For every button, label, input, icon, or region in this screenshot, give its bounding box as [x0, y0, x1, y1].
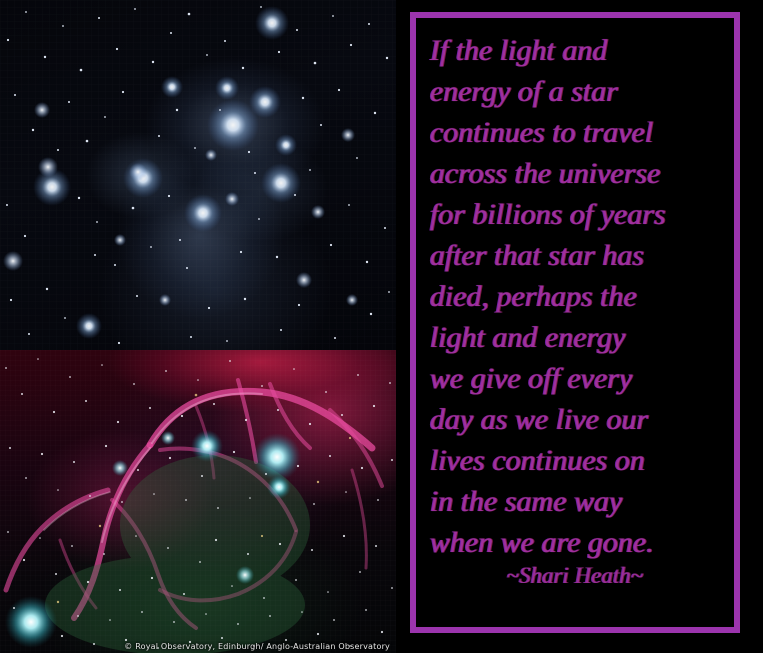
quote-line: day as we live our [430, 399, 730, 440]
quote-line: light and energy [430, 317, 730, 358]
quote-line: energy of a star [430, 71, 730, 112]
quote-line: when we are gone. [430, 522, 730, 563]
quote-attribution: ~Shari Heath~ [416, 563, 734, 589]
quote-line: across the universe [430, 153, 730, 194]
quote-line: in the same way [430, 481, 730, 522]
quote-line: continues to travel [430, 112, 730, 153]
nebula-image [0, 350, 396, 653]
star-cluster-image [0, 0, 396, 350]
inspirational-quote-poster: © Royal Observatory, Edinburgh/ Anglo-Au… [0, 0, 763, 653]
quote-line: for billions of years [430, 194, 730, 235]
pleiades-mosaic-texture [0, 0, 396, 350]
photo-credit-text: © Royal Observatory, Edinburgh/ Anglo-Au… [0, 642, 392, 651]
quote-line: lives continues on [430, 440, 730, 481]
quote-line: If the light and [430, 30, 730, 71]
astronomy-image-column: © Royal Observatory, Edinburgh/ Anglo-Au… [0, 0, 396, 653]
quote-text-block: If the light and energy of a star contin… [430, 30, 730, 563]
quote-panel: If the light and energy of a star contin… [410, 12, 740, 633]
nebula-mosaic-texture [0, 350, 396, 653]
quote-line: we give off every [430, 358, 730, 399]
quote-line: after that star has [430, 235, 730, 276]
quote-line: died, perhaps the [430, 276, 730, 317]
